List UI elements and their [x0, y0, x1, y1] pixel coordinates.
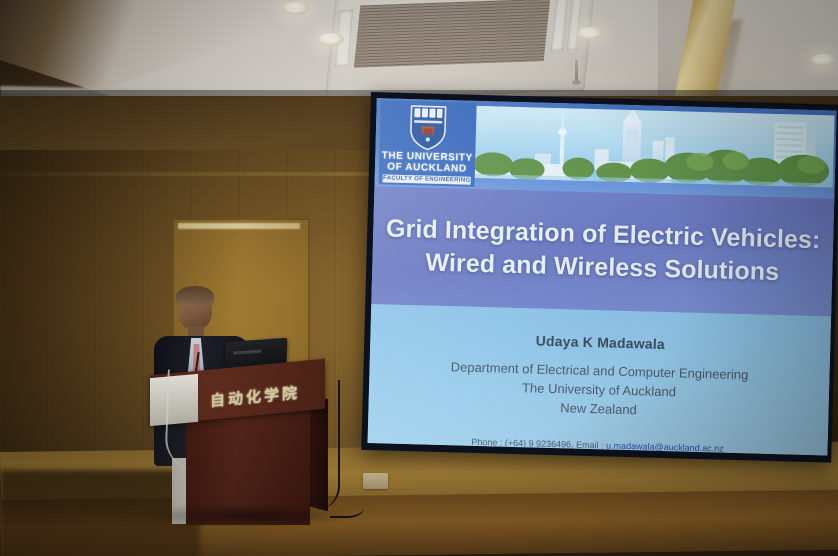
wall-trim-rail	[0, 172, 380, 176]
ceiling-downlight	[318, 33, 344, 46]
lecture-hall-photo: THE UNIVERSITY OF AUCKLAND FACULTY OF EN…	[0, 0, 838, 556]
ceiling-downlight	[811, 54, 835, 66]
logo-faculty-label: FACULTY OF ENGINEERING	[383, 174, 471, 184]
wall-power-outlet[interactable]	[363, 473, 388, 489]
projection-screen-frame: THE UNIVERSITY OF AUCKLAND FACULTY OF EN…	[361, 92, 838, 463]
microphone-cable	[164, 369, 199, 470]
presenter-name: Udaya K Madawala	[370, 328, 830, 356]
ceiling-downlight	[577, 27, 603, 40]
ceiling-downlight	[283, 2, 309, 15]
slide-header: THE UNIVERSITY OF AUCKLAND FACULTY OF EN…	[374, 98, 836, 198]
door-top-highlight	[178, 223, 300, 229]
power-cable	[316, 380, 340, 510]
podium-floor-shadow	[140, 505, 350, 527]
sprinkler-head-icon	[575, 60, 578, 84]
logo-line-2: OF AUCKLAND	[379, 161, 475, 175]
auckland-skyline-banner	[475, 106, 835, 188]
ceiling-cassette-ac-icon	[325, 0, 596, 100]
slide-title-band: Grid Integration of Electric Vehicles: W…	[371, 186, 834, 316]
slide-title: Grid Integration of Electric Vehicles: W…	[377, 212, 829, 290]
projection-screen[interactable]: THE UNIVERSITY OF AUCKLAND FACULTY OF EN…	[368, 98, 837, 455]
ac-grille	[354, 0, 550, 68]
slide-body: Udaya K Madawala Department of Electrica…	[368, 304, 832, 455]
contact-phone-label: Phone : (+64) 9 9236496, Email :	[471, 437, 606, 451]
ac-louver	[567, 0, 583, 50]
ac-louver	[551, 0, 569, 51]
speaker-hair	[176, 286, 214, 306]
contact-email-link[interactable]: u.madawala@auckland.ac.nz	[606, 440, 724, 453]
university-shield-crest-icon	[407, 104, 448, 151]
affiliation-block: Department of Electrical and Computer En…	[368, 355, 829, 424]
university-logo: THE UNIVERSITY OF AUCKLAND FACULTY OF EN…	[379, 100, 477, 187]
